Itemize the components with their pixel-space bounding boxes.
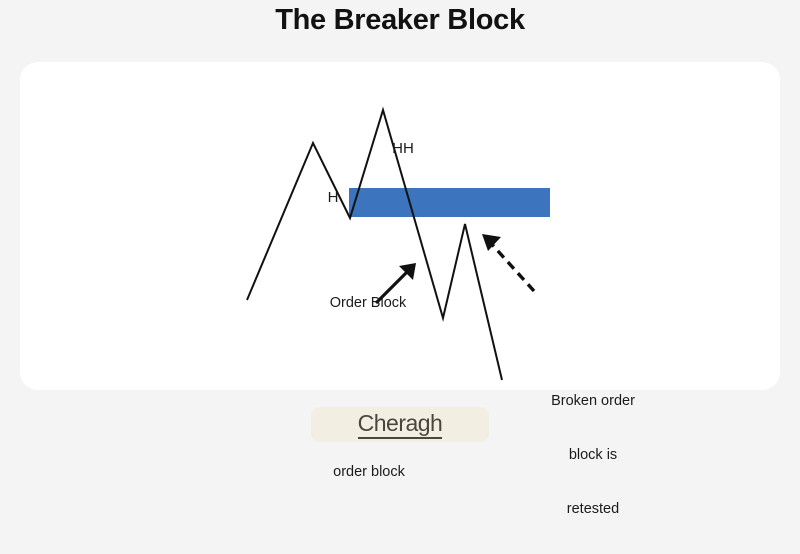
page-title: The Breaker Block bbox=[0, 4, 800, 37]
price-breaks-annotation: Price breaks order block bbox=[329, 373, 410, 517]
brand-logo-text: Cheragh bbox=[358, 411, 443, 439]
order-block-zone bbox=[349, 188, 550, 217]
retest-line-3: retested bbox=[551, 500, 635, 518]
chart-card: H HH Order Block Price breaks order bloc… bbox=[20, 62, 780, 390]
brand-logo: Cheragh bbox=[311, 407, 489, 442]
order-block-label: Order Block bbox=[330, 294, 407, 312]
brand-logo-badge: Cheragh bbox=[311, 407, 489, 442]
breaker-block-diagram bbox=[20, 62, 780, 390]
retest-line-1: Broken order bbox=[551, 392, 635, 410]
price-line bbox=[247, 110, 502, 380]
retest-line-2: block is bbox=[551, 446, 635, 464]
page-root: The Breaker Block H HH Order Block Price… bbox=[0, 0, 800, 450]
swing-high-label: H bbox=[328, 189, 339, 207]
retest-annotation: Broken order block is retested bbox=[551, 356, 635, 554]
price-breaks-line-2: order block bbox=[329, 463, 410, 481]
retest-arrow bbox=[482, 234, 534, 291]
higher-high-label: HH bbox=[392, 140, 414, 158]
